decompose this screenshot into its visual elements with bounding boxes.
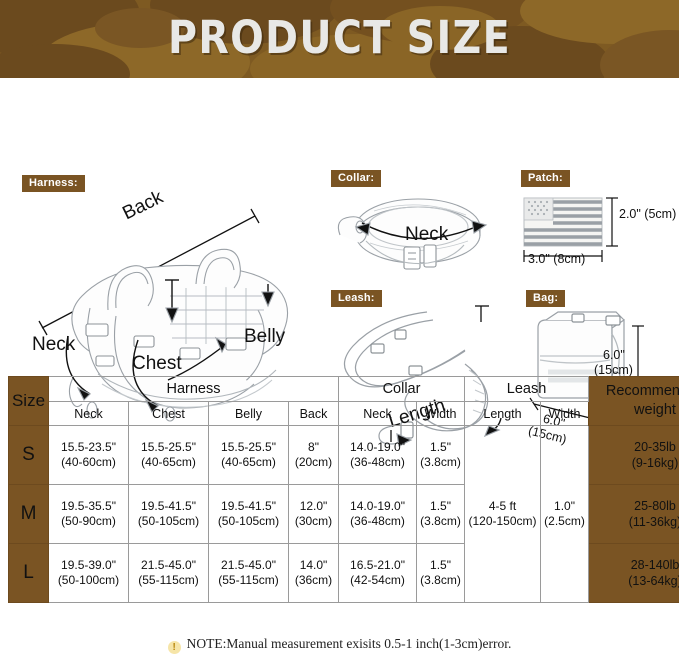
cell-harness-belly-m: 19.5-41.5" (50-105cm) — [209, 485, 289, 544]
diagram-area: Harness: — [0, 78, 679, 373]
cell-harness-back-s: 8" (20cm) — [289, 426, 339, 485]
header-recommended-weight-line1: Recommended — [590, 382, 679, 401]
bag-height-dimension-line1: 6.0" — [603, 348, 625, 362]
cell-harness-neck-l: 19.5-39.0" (50-100cm) — [49, 544, 129, 603]
header-size: Size — [9, 377, 49, 426]
header-group-leash: Leash — [465, 377, 589, 402]
header-recommended-weight: Recommended weight — [589, 377, 679, 426]
patch-tag: Patch: — [521, 170, 570, 187]
size-chart-table: Size Harness Collar Leash Recommended we… — [8, 376, 679, 603]
row-size-m: M — [9, 485, 49, 544]
row-size-s: S — [9, 426, 49, 485]
page-title: PRODUCT SIZE — [41, 11, 639, 64]
cell-harness-belly-s: 15.5-25.5" (40-65cm) — [209, 426, 289, 485]
cell-leash-length: 4-5 ft (120-150cm) — [465, 426, 541, 603]
cell-harness-chest-s: 15.5-25.5" (40-65cm) — [129, 426, 209, 485]
row-size-l: L — [9, 544, 49, 603]
harness-chest-label: Chest — [132, 353, 182, 375]
bag-height-dimension-line2: (15cm) — [594, 363, 633, 377]
cell-weight-m: 25-80lb (11-36kg) — [589, 485, 679, 544]
bag-tag: Bag: — [526, 290, 565, 307]
cell-collar-width-m: 1.5" (3.8cm) — [417, 485, 465, 544]
cell-harness-chest-l: 21.5-45.0" (55-115cm) — [129, 544, 209, 603]
harness-neck-label: Neck — [32, 334, 75, 356]
warning-icon: ! — [168, 641, 181, 654]
patch-width-dimension: 3.0" (8cm) — [528, 252, 585, 266]
cell-harness-back-l: 14.0" (36cm) — [289, 544, 339, 603]
cell-leash-width: 1.0" (2.5cm) — [541, 426, 589, 603]
header-recommended-weight-line2: weight — [590, 401, 679, 420]
cell-harness-chest-m: 19.5-41.5" (50-105cm) — [129, 485, 209, 544]
header-group-harness: Harness — [49, 377, 339, 402]
measurement-note-text: NOTE:Manual measurement exisits 0.5-1 in… — [187, 636, 512, 651]
measurement-note: !NOTE:Manual measurement exisits 0.5-1 i… — [0, 636, 679, 654]
cell-harness-belly-l: 21.5-45.0" (55-115cm) — [209, 544, 289, 603]
cell-weight-s: 20-35lb (9-16kg) — [589, 426, 679, 485]
header-banner: PRODUCT SIZE — [0, 0, 679, 78]
header-group-collar: Collar — [339, 377, 465, 402]
cell-harness-back-m: 12.0" (30cm) — [289, 485, 339, 544]
cell-collar-width-s: 1.5" (3.8cm) — [417, 426, 465, 485]
size-table-wrapper: Size Harness Collar Leash Recommended we… — [8, 376, 671, 603]
subheader-harness-belly: Belly — [209, 402, 289, 426]
subheader-collar-neck: Neck — [339, 402, 417, 426]
cell-collar-neck-m: 14.0-19.0" (36-48cm) — [339, 485, 417, 544]
subheader-harness-chest: Chest — [129, 402, 209, 426]
cell-weight-l: 28-140lb (13-64kg) — [589, 544, 679, 603]
subheader-leash-width: Width — [541, 402, 589, 426]
cell-collar-width-l: 1.5" (3.8cm) — [417, 544, 465, 603]
cell-harness-neck-s: 15.5-23.5" (40-60cm) — [49, 426, 129, 485]
table-subheader-row: Neck Chest Belly Back Neck Width Length … — [9, 402, 679, 426]
cell-collar-neck-l: 16.5-21.0" (42-54cm) — [339, 544, 417, 603]
subheader-harness-back: Back — [289, 402, 339, 426]
table-group-header-row: Size Harness Collar Leash Recommended we… — [9, 377, 679, 402]
subheader-leash-length: Length — [465, 402, 541, 426]
cell-harness-neck-m: 19.5-35.5" (50-90cm) — [49, 485, 129, 544]
patch-height-dimension: 2.0" (5cm) — [619, 207, 676, 221]
cell-collar-neck-s: 14.0-19.0" (36-48cm) — [339, 426, 417, 485]
table-row: S 15.5-23.5" (40-60cm) 15.5-25.5" (40-65… — [9, 426, 679, 485]
product-size-infographic: PRODUCT SIZE Harness: — [0, 0, 679, 664]
harness-belly-label: Belly — [244, 326, 285, 348]
subheader-collar-width: Width — [417, 402, 465, 426]
subheader-harness-neck: Neck — [49, 402, 129, 426]
collar-neck-label: Neck — [405, 224, 448, 246]
